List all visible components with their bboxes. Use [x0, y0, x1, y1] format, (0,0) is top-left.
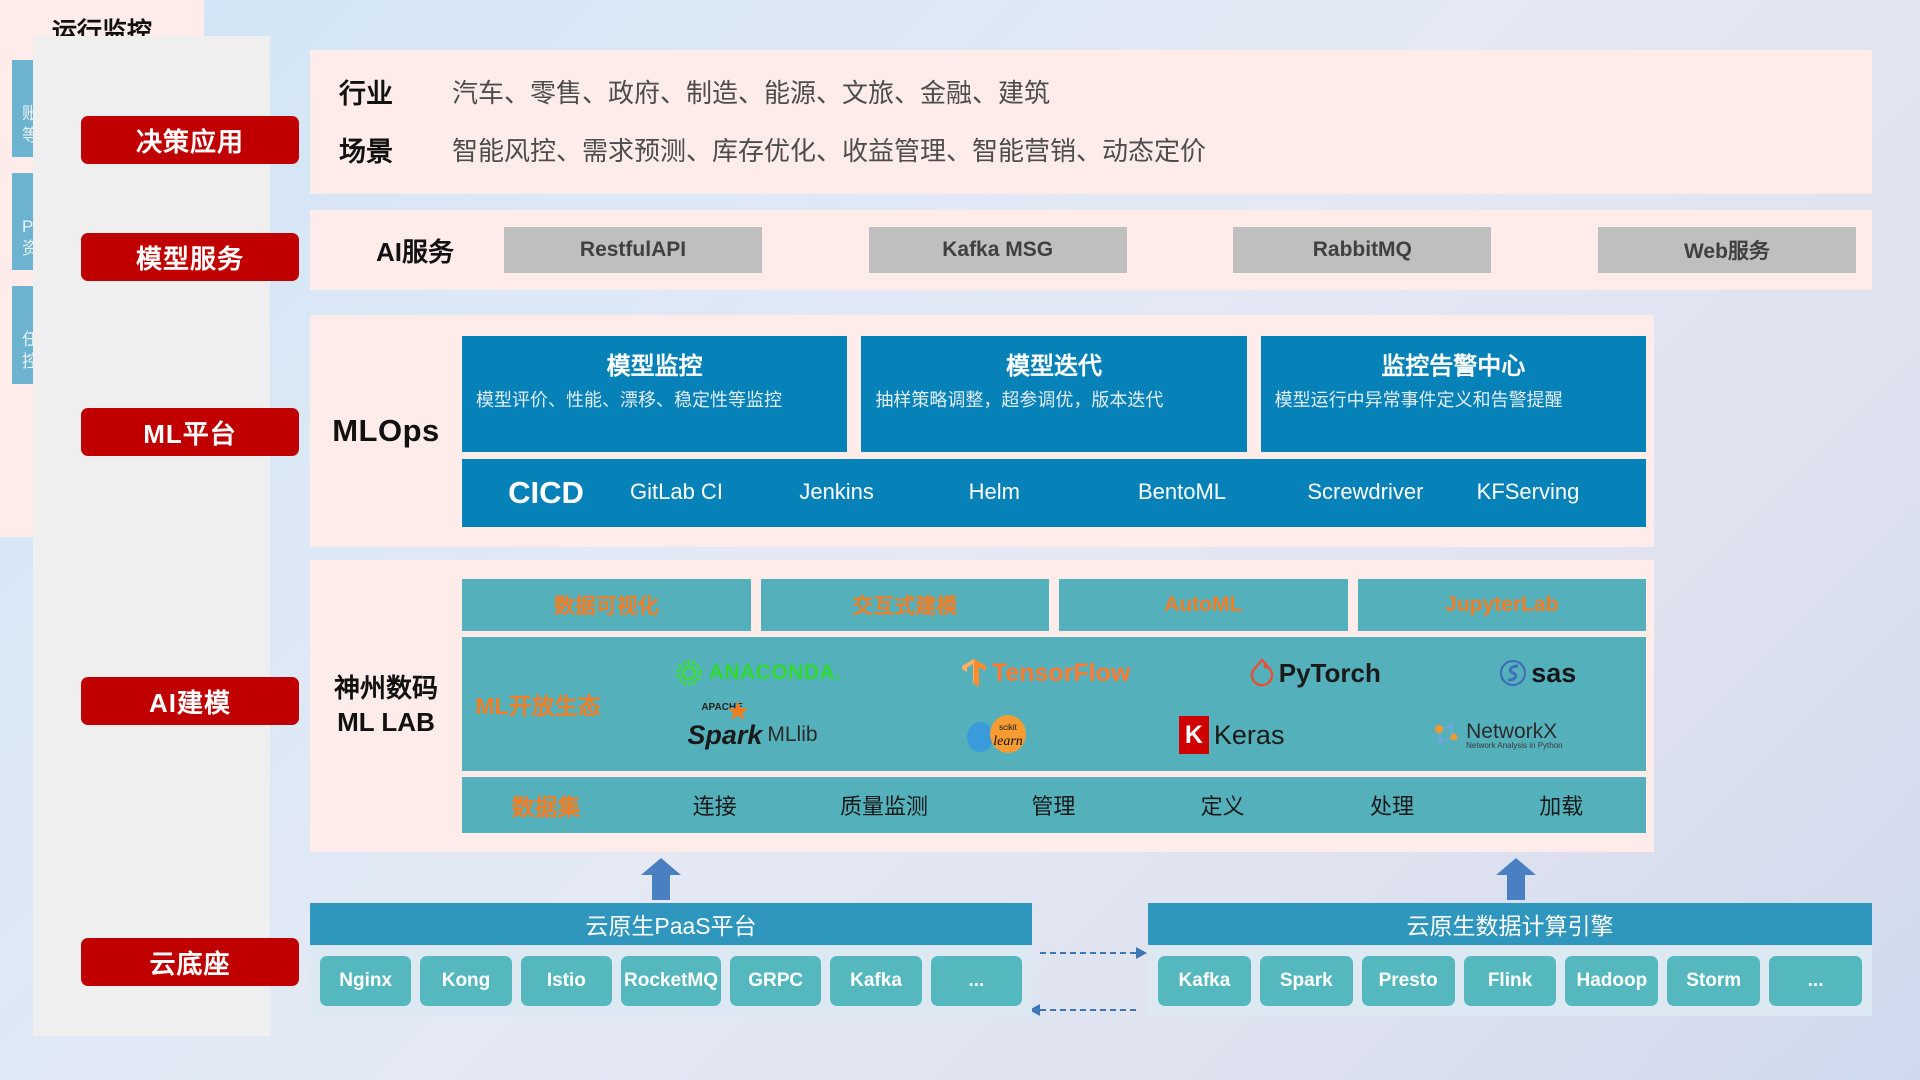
cicd-title: CICD — [462, 475, 630, 511]
ml-open-ecosystem-label: ML开放生态 — [462, 687, 614, 721]
cloud-chip[interactable]: Kafka — [1158, 956, 1251, 1006]
cicd-item-list: GitLab CI Jenkins Helm BentoML Screwdriv… — [630, 479, 1646, 505]
cloud-data-engine-panel: 云原生数据计算引擎 Kafka Spark Presto Flink Hadoo… — [1148, 903, 1872, 1016]
mlops-band: MLOps 模型监控 模型评价、性能、漂移、稳定性等监控 模型迭代 抽样策略调整… — [310, 315, 1654, 547]
mlops-card-model-monitor[interactable]: 模型监控 模型评价、性能、漂移、稳定性等监控 — [462, 336, 847, 452]
cloud-chip[interactable]: Kong — [420, 956, 511, 1006]
spark-mllib-logo: APACHE Spark MLlib — [687, 720, 817, 751]
mlops-label: MLOps — [310, 413, 462, 449]
anaconda-label: ANACONDA. — [709, 661, 842, 685]
ml-tool-chip-automl[interactable]: AutoML — [1059, 579, 1348, 631]
keras-label: Keras — [1214, 720, 1285, 751]
sas-label: sas — [1531, 658, 1576, 689]
mlops-card-list: 模型监控 模型评价、性能、漂移、稳定性等监控 模型迭代 抽样策略调整，超参调优，… — [462, 336, 1646, 452]
cloud-chip[interactable]: RocketMQ — [621, 956, 721, 1006]
ai-service-chip[interactable]: RabbitMQ — [1233, 227, 1491, 273]
ai-service-chip[interactable]: RestfulAPI — [504, 227, 762, 273]
ai-service-chip-list: RestfulAPI Kafka MSG RabbitMQ Web服务 — [490, 227, 1872, 273]
ml-tool-chip-data-viz[interactable]: 数据可视化 — [462, 579, 751, 631]
cloud-chip[interactable]: Presto — [1362, 956, 1455, 1006]
cloud-paas-panel: 云原生PaaS平台 Nginx Kong Istio RocketMQ GRPC… — [310, 903, 1032, 1016]
cloud-chip[interactable]: ... — [931, 956, 1022, 1006]
ml-tool-chip-list: 数据可视化 交互式建模 AutoML JupyterLab — [462, 579, 1646, 631]
business-key: 行业 — [310, 72, 422, 111]
mllib-label: MLlib — [767, 723, 817, 747]
rail-item-model-service[interactable]: 模型服务 — [81, 233, 299, 281]
anaconda-icon — [674, 658, 704, 688]
business-key: 场景 — [310, 130, 422, 169]
tensorflow-logo: TensorFlow — [961, 658, 1130, 688]
cloud-data-engine-chip-list: Kafka Spark Presto Flink Hadoop Storm ..… — [1148, 945, 1872, 1006]
networkx-logo: NetworkX Network Analysis in Python — [1431, 720, 1563, 750]
networkx-label: NetworkX — [1466, 721, 1563, 742]
dataset-title: 数据集 — [462, 788, 630, 822]
rail-label: AI建模 — [149, 683, 231, 720]
cicd-bar: CICD GitLab CI Jenkins Helm BentoML Scre… — [462, 459, 1646, 527]
spark-label: Spark — [687, 720, 762, 751]
dataset-item[interactable]: 质量监测 — [799, 789, 968, 821]
mlops-card-title: 监控告警中心 — [1275, 346, 1632, 381]
ai-service-band: AI服务 RestfulAPI Kafka MSG RabbitMQ Web服务 — [310, 210, 1872, 290]
ecosystem-logo-row-1: ANACONDA. TensorFlow — [614, 643, 1636, 703]
mlops-card-model-iteration[interactable]: 模型迭代 抽样策略调整，超参调优，版本迭代 — [861, 336, 1246, 452]
dataset-item[interactable]: 定义 — [1138, 789, 1307, 821]
svg-text:learn: learn — [993, 734, 1023, 749]
cloud-chip[interactable]: Spark — [1260, 956, 1353, 1006]
sas-icon — [1500, 659, 1526, 687]
cloud-chip[interactable]: Storm — [1667, 956, 1760, 1006]
business-value: 汽车、零售、政府、制造、能源、文旅、金融、建筑 — [452, 73, 1050, 110]
tensorflow-label: TensorFlow — [992, 659, 1130, 688]
dataset-item[interactable]: 处理 — [1307, 789, 1476, 821]
ai-service-label: AI服务 — [340, 232, 490, 269]
cloud-chip[interactable]: GRPC — [730, 956, 821, 1006]
ai-service-chip[interactable]: Kafka MSG — [869, 227, 1127, 273]
cloud-paas-chip-list: Nginx Kong Istio RocketMQ GRPC Kafka ... — [310, 945, 1032, 1006]
rail-label: 决策应用 — [136, 122, 244, 159]
mlops-card-desc: 模型评价、性能、漂移、稳定性等监控 — [476, 389, 833, 413]
cloud-chip[interactable]: ... — [1769, 956, 1862, 1006]
dataset-bar: 数据集 连接 质量监测 管理 定义 处理 加载 — [462, 777, 1646, 833]
mlops-card-alert-center[interactable]: 监控告警中心 模型运行中异常事件定义和告警提醒 — [1261, 336, 1646, 452]
spark-star-icon — [727, 700, 749, 722]
cicd-item[interactable]: Jenkins — [799, 479, 968, 505]
cicd-item[interactable]: Helm — [969, 479, 1138, 505]
ml-lab-label-line2: ML LAB — [310, 706, 462, 740]
dashed-arrow-left-icon — [1040, 1009, 1136, 1011]
rail-item-ml-platform[interactable]: ML平台 — [81, 408, 299, 456]
ecosystem-logo-grid: ANACONDA. TensorFlow — [614, 637, 1646, 771]
dataset-item[interactable]: 管理 — [969, 789, 1138, 821]
scikit-learn-logo: scikit learn — [964, 715, 1032, 755]
business-row-industry: 行业 汽车、零售、政府、制造、能源、文旅、金融、建筑 — [310, 72, 1872, 111]
pytorch-logo: PyTorch — [1250, 658, 1381, 689]
networkx-sublabel: Network Analysis in Python — [1466, 742, 1563, 750]
ai-service-chip[interactable]: Web服务 — [1598, 227, 1856, 273]
mlops-card-title: 模型监控 — [476, 346, 833, 381]
cloud-chip[interactable]: Istio — [521, 956, 612, 1006]
rail-label: 云底座 — [149, 944, 230, 981]
pytorch-icon — [1250, 658, 1274, 688]
rail-label: 模型服务 — [136, 239, 244, 276]
cloud-paas-title: 云原生PaaS平台 — [310, 903, 1032, 945]
ml-tool-chip-jupyterlab[interactable]: JupyterLab — [1358, 579, 1647, 631]
ml-lab-content: 数据可视化 交互式建模 AutoML JupyterLab ML开放生态 — [462, 579, 1654, 833]
ml-lab-band: 神州数码 ML LAB 数据可视化 交互式建模 AutoML JupyterLa… — [310, 560, 1654, 852]
cloud-chip[interactable]: Kafka — [830, 956, 921, 1006]
cicd-item[interactable]: BentoML — [1138, 479, 1307, 505]
cloud-chip[interactable]: Flink — [1464, 956, 1557, 1006]
business-row-scenario: 场景 智能风控、需求预测、库存优化、收益管理、智能营销、动态定价 — [310, 130, 1872, 169]
cicd-item[interactable]: GitLab CI — [630, 479, 799, 505]
rail-label: ML平台 — [143, 414, 237, 451]
business-band: 行业 汽车、零售、政府、制造、能源、文旅、金融、建筑 场景 智能风控、需求预测、… — [310, 50, 1872, 194]
up-arrow-icon-right — [1496, 858, 1536, 900]
svg-text:scikit: scikit — [999, 723, 1018, 732]
ecosystem-logo-row-2: APACHE Spark MLlib — [614, 705, 1636, 765]
sas-logo: sas — [1500, 658, 1576, 689]
cloud-chip[interactable]: Nginx — [320, 956, 411, 1006]
dataset-item[interactable]: 连接 — [630, 789, 799, 821]
scikit-learn-icon: scikit learn — [964, 715, 1032, 755]
keras-logo: K Keras — [1179, 716, 1285, 754]
mlops-card-title: 模型迭代 — [875, 346, 1232, 381]
architecture-diagram: 决策应用 模型服务 ML平台 AI建模 云底座 行业 汽车、零售、政府、制造、能… — [0, 0, 1920, 1080]
pytorch-label: PyTorch — [1279, 658, 1381, 689]
mlops-card-desc: 抽样策略调整，超参调优，版本迭代 — [875, 389, 1232, 413]
cicd-item[interactable]: KFServing — [1477, 479, 1646, 505]
mlops-content: 模型监控 模型评价、性能、漂移、稳定性等监控 模型迭代 抽样策略调整，超参调优，… — [462, 336, 1654, 527]
up-arrow-icon-left — [641, 858, 681, 900]
rail-item-ai-modeling[interactable]: AI建模 — [81, 677, 299, 725]
ml-lab-label: 神州数码 ML LAB — [310, 672, 462, 740]
tensorflow-icon — [961, 658, 987, 688]
rail-item-cloud-base[interactable]: 云底座 — [81, 938, 299, 986]
ml-tool-chip-interactive-modeling[interactable]: 交互式建模 — [761, 579, 1050, 631]
business-value: 智能风控、需求预测、库存优化、收益管理、智能营销、动态定价 — [452, 131, 1206, 168]
dashed-arrow-right-icon — [1040, 952, 1136, 954]
anaconda-logo: ANACONDA. — [674, 658, 842, 688]
ml-lab-label-line1: 神州数码 — [310, 672, 462, 706]
cloud-data-engine-title: 云原生数据计算引擎 — [1148, 903, 1872, 945]
networkx-icon — [1431, 720, 1461, 750]
dataset-item-list: 连接 质量监测 管理 定义 处理 加载 — [630, 789, 1646, 821]
keras-mark: K — [1179, 716, 1209, 754]
mlops-card-desc: 模型运行中异常事件定义和告警提醒 — [1275, 389, 1632, 413]
rail-item-decision-app[interactable]: 决策应用 — [81, 116, 299, 164]
dataset-item[interactable]: 加载 — [1477, 789, 1646, 821]
ml-open-ecosystem: ML开放生态 ANACONDA. — [462, 637, 1646, 771]
cloud-chip[interactable]: Hadoop — [1565, 956, 1658, 1006]
layer-rail: 决策应用 模型服务 ML平台 AI建模 云底座 — [33, 36, 270, 1036]
cicd-item[interactable]: Screwdriver — [1307, 479, 1476, 505]
